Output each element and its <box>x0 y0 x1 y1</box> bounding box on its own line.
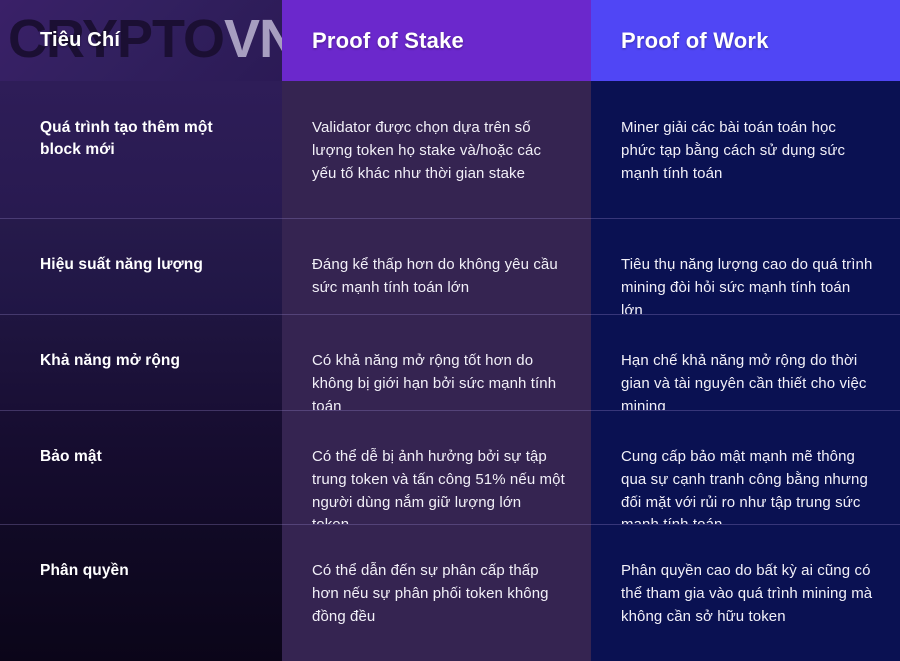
table-row: Phân quyền <box>0 524 282 661</box>
cell-proof-of-stake: Có thể dẫn đến sự phân cấp thấp hơn nếu … <box>282 524 591 661</box>
criteria-label: Phân quyền <box>40 560 254 582</box>
cell-proof-of-stake: Validator được chọn dựa trên số lượng to… <box>282 81 591 218</box>
cell-proof-of-work: Miner giải các bài toán toán học phức tạ… <box>591 81 900 218</box>
table-row: Quá trình tạo thêm một block mới <box>0 81 282 218</box>
header-label-criteria: Tiêu Chí <box>0 29 120 52</box>
criteria-label: Khả năng mở rộng <box>40 350 254 372</box>
cell-text: Cung cấp bảo mật mạnh mẽ thông qua sự cạ… <box>621 446 874 524</box>
cell-proof-of-work: Phân quyền cao do bất kỳ ai cũng có thể … <box>591 524 900 661</box>
cell-text: Phân quyền cao do bất kỳ ai cũng có thể … <box>621 560 874 628</box>
cell-text: Hạn chế khả năng mở rộng do thời gian và… <box>621 350 874 410</box>
cell-text: Có thể dễ bị ảnh hưởng bởi sự tập trung … <box>312 446 565 524</box>
cell-proof-of-work: Tiêu thụ năng lượng cao do quá trình min… <box>591 218 900 314</box>
criteria-label: Hiệu suất năng lượng <box>40 254 254 276</box>
table-row: Hiệu suất năng lượng <box>0 218 282 314</box>
header-label-proof-of-work: Proof of Work <box>591 28 769 54</box>
cell-proof-of-work: Hạn chế khả năng mở rộng do thời gian và… <box>591 314 900 410</box>
cell-text: Validator được chọn dựa trên số lượng to… <box>312 117 565 185</box>
cell-text: Đáng kể thấp hơn do không yêu cầu sức mạ… <box>312 254 565 300</box>
header-cell-criteria: CRYPTOVN Tiêu Chí <box>0 0 282 81</box>
comparison-table: CRYPTOVN Tiêu Chí Proof of Stake Proof o… <box>0 0 900 661</box>
cell-proof-of-stake: Có khả năng mở rộng tốt hơn do không bị … <box>282 314 591 410</box>
table-row: Khả năng mở rộng <box>0 314 282 410</box>
cell-proof-of-work: Cung cấp bảo mật mạnh mẽ thông qua sự cạ… <box>591 410 900 524</box>
header-cell-proof-of-work: Proof of Work <box>591 0 900 81</box>
watermark-light-text: VN <box>224 9 282 69</box>
criteria-label: Bảo mật <box>40 446 254 468</box>
cell-text: Miner giải các bài toán toán học phức tạ… <box>621 117 874 185</box>
table-row: Bảo mật <box>0 410 282 524</box>
header-label-proof-of-stake: Proof of Stake <box>282 28 464 54</box>
header-cell-proof-of-stake: Proof of Stake <box>282 0 591 81</box>
cell-text: Có thể dẫn đến sự phân cấp thấp hơn nếu … <box>312 560 565 628</box>
cell-text: Tiêu thụ năng lượng cao do quá trình min… <box>621 254 874 314</box>
cell-proof-of-stake: Có thể dễ bị ảnh hưởng bởi sự tập trung … <box>282 410 591 524</box>
cell-proof-of-stake: Đáng kể thấp hơn do không yêu cầu sức mạ… <box>282 218 591 314</box>
cell-text: Có khả năng mở rộng tốt hơn do không bị … <box>312 350 565 410</box>
criteria-label: Quá trình tạo thêm một block mới <box>40 117 254 162</box>
